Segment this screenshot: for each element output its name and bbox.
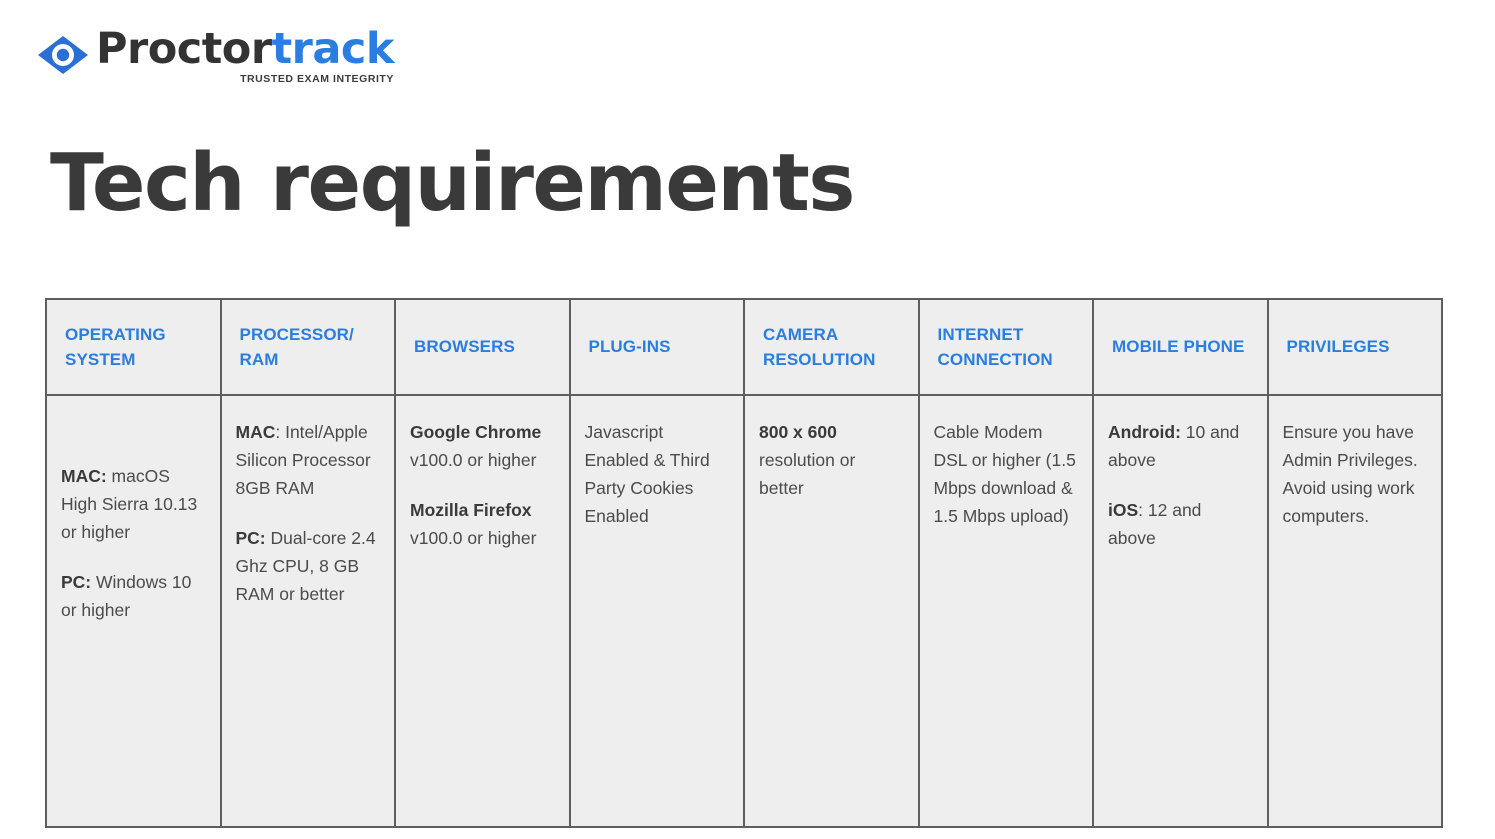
brand-logo: Proctortrack TRUSTED EXAM INTEGRITY	[36, 28, 394, 85]
cell-emphasis: MAC	[236, 422, 276, 442]
logo-tagline: TRUSTED EXAM INTEGRITY	[240, 73, 394, 85]
column-header-operating-system: OPERATING SYSTEM	[46, 299, 221, 395]
cell-paragraph: Android: 10 and above	[1108, 418, 1253, 474]
column-header-plug-ins: PLUG-INS	[570, 299, 745, 395]
cell-emphasis: Google Chrome	[410, 422, 541, 442]
cell-content: MAC: Intel/Apple Silicon Processor 8GB R…	[236, 418, 381, 608]
cell-paragraph: PC: Windows 10 or higher	[61, 568, 206, 624]
cell-emphasis: PC:	[236, 528, 266, 548]
cell-content: Javascript Enabled & Third Party Cookies…	[585, 418, 730, 530]
cell-camera-resolution: 800 x 600 resolution or better	[744, 395, 919, 827]
column-header-processor-ram: PROCESSOR/ RAM	[221, 299, 396, 395]
column-header-label: PRIVILEGES	[1287, 337, 1390, 356]
cell-emphasis: iOS	[1108, 500, 1138, 520]
cell-paragraph: Ensure you have Admin Privileges. Avoid …	[1283, 418, 1428, 530]
cell-content: Android: 10 and aboveiOS: 12 and above	[1108, 418, 1253, 552]
table-header-row: OPERATING SYSTEM PROCESSOR/ RAM BROWSERS…	[46, 299, 1442, 395]
cell-content: Ensure you have Admin Privileges. Avoid …	[1283, 418, 1428, 530]
cell-plug-ins: Javascript Enabled & Third Party Cookies…	[570, 395, 745, 827]
cell-emphasis: Android:	[1108, 422, 1181, 442]
cell-content: Cable Modem DSL or higher (1.5 Mbps down…	[934, 418, 1079, 530]
cell-paragraph: Google Chrome v100.0 or higher	[410, 418, 555, 474]
column-header-label: PROCESSOR/ RAM	[240, 325, 354, 370]
cell-emphasis: Mozilla Firefox	[410, 500, 532, 520]
cell-browsers: Google Chrome v100.0 or higherMozilla Fi…	[395, 395, 570, 827]
logo-word-proctor: Proctor	[96, 24, 272, 74]
column-header-label: INTERNET CONNECTION	[938, 325, 1053, 370]
table-row: MAC: macOS High Sierra 10.13 or higherPC…	[46, 395, 1442, 827]
cell-content: MAC: macOS High Sierra 10.13 or higherPC…	[61, 418, 206, 624]
column-header-internet-connection: INTERNET CONNECTION	[919, 299, 1094, 395]
cell-mobile-phone: Android: 10 and aboveiOS: 12 and above	[1093, 395, 1268, 827]
cell-paragraph: MAC: macOS High Sierra 10.13 or higher	[61, 462, 206, 546]
tech-requirements-table: OPERATING SYSTEM PROCESSOR/ RAM BROWSERS…	[45, 298, 1443, 828]
eye-diamond-logo-icon	[36, 34, 90, 76]
cell-paragraph: Cable Modem DSL or higher (1.5 Mbps down…	[934, 418, 1079, 530]
cell-emphasis: MAC:	[61, 466, 107, 486]
column-header-label: MOBILE PHONE	[1112, 337, 1245, 356]
cell-processor-ram: MAC: Intel/Apple Silicon Processor 8GB R…	[221, 395, 396, 827]
cell-content: 800 x 600 resolution or better	[759, 418, 904, 502]
column-header-label: CAMERA RESOLUTION	[763, 325, 875, 370]
cell-paragraph: 800 x 600 resolution or better	[759, 418, 904, 502]
cell-paragraph: iOS: 12 and above	[1108, 496, 1253, 552]
column-header-mobile-phone: MOBILE PHONE	[1093, 299, 1268, 395]
cell-internet-connection: Cable Modem DSL or higher (1.5 Mbps down…	[919, 395, 1094, 827]
cell-paragraph: Mozilla Firefox v100.0 or higher	[410, 496, 555, 552]
cell-emphasis: 800 x 600	[759, 422, 837, 442]
column-header-privileges: PRIVILEGES	[1268, 299, 1443, 395]
column-header-browsers: BROWSERS	[395, 299, 570, 395]
cell-paragraph: MAC: Intel/Apple Silicon Processor 8GB R…	[236, 418, 381, 502]
column-header-label: OPERATING SYSTEM	[65, 325, 166, 370]
page-title: Tech requirements	[50, 142, 854, 225]
column-header-camera-resolution: CAMERA RESOLUTION	[744, 299, 919, 395]
cell-emphasis: PC:	[61, 572, 91, 592]
cell-operating-system: MAC: macOS High Sierra 10.13 or higherPC…	[46, 395, 221, 827]
cell-paragraph: PC: Dual-core 2.4 Ghz CPU, 8 GB RAM or b…	[236, 524, 381, 608]
column-header-label: PLUG-INS	[589, 337, 671, 356]
column-header-label: BROWSERS	[414, 337, 515, 356]
cell-privileges: Ensure you have Admin Privileges. Avoid …	[1268, 395, 1443, 827]
logo-word-track: track	[272, 24, 394, 74]
cell-content: Google Chrome v100.0 or higherMozilla Fi…	[410, 418, 555, 552]
cell-paragraph: Javascript Enabled & Third Party Cookies…	[585, 418, 730, 530]
